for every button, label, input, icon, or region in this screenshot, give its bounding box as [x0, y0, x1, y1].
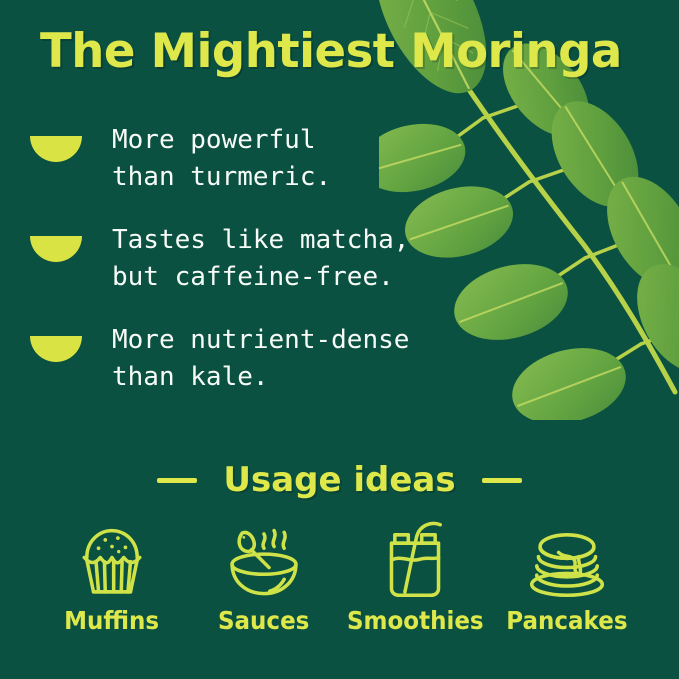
- bowl-spoon-icon: [222, 518, 306, 602]
- list-item: More nutrient-dense than kale.: [30, 322, 490, 396]
- usage-ideas-grid: Muffins Sauces: [42, 518, 637, 635]
- pancake-stack-icon: [525, 518, 609, 602]
- list-item: Tastes like matcha, but caffeine-free.: [30, 222, 490, 296]
- usage-item-sauces: Sauces: [194, 518, 334, 635]
- benefit-text: More powerful than turmeric.: [112, 122, 331, 196]
- usage-item-label: Pancakes: [506, 606, 627, 635]
- usage-item-label: Smoothies: [347, 606, 484, 635]
- rule-left-icon: [157, 478, 197, 483]
- half-circle-bullet-icon: [30, 136, 82, 162]
- usage-item-muffins: Muffins: [42, 518, 182, 635]
- usage-item-pancakes: Pancakes: [497, 518, 637, 635]
- list-item: More powerful than turmeric.: [30, 122, 490, 196]
- benefits-list: More powerful than turmeric. Tastes like…: [30, 122, 490, 421]
- usage-ideas-title: Usage ideas: [223, 460, 455, 500]
- benefit-text: Tastes like matcha, but caffeine-free.: [112, 222, 409, 296]
- mason-jar-straw-icon: [373, 518, 457, 602]
- half-circle-bullet-icon: [30, 236, 82, 262]
- usage-item-smoothies: Smoothies: [345, 518, 485, 635]
- half-circle-bullet-icon: [30, 336, 82, 362]
- benefit-text: More nutrient-dense than kale.: [112, 322, 409, 396]
- page-title: The Mightiest Moringa: [40, 24, 654, 79]
- moringa-product-infographic: The Mightiest Moringa More powerful than…: [0, 0, 679, 679]
- muffin-icon: [70, 518, 154, 602]
- usage-item-label: Muffins: [65, 606, 160, 635]
- usage-item-label: Sauces: [218, 606, 309, 635]
- rule-right-icon: [482, 478, 522, 483]
- usage-ideas-heading: Usage ideas: [0, 460, 679, 500]
